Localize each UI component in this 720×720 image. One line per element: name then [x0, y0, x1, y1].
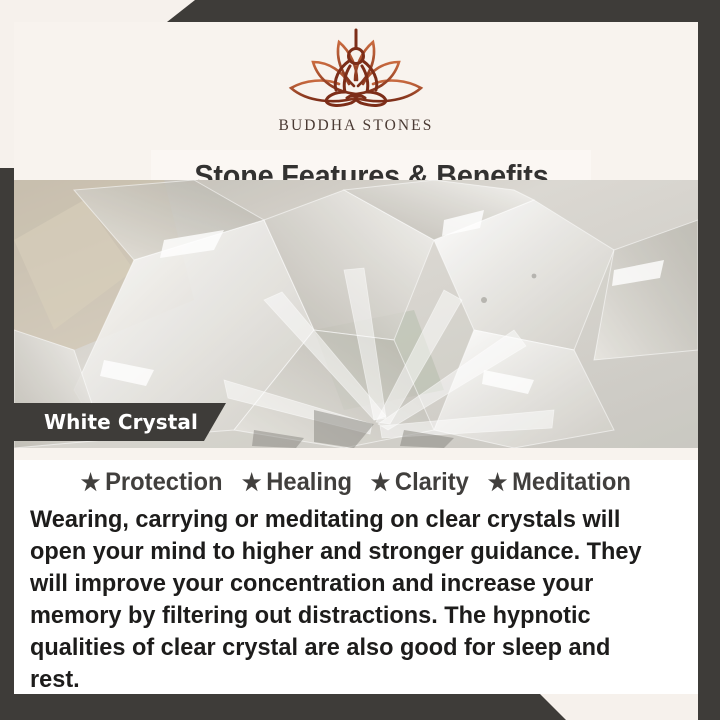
benefit-label: Protection	[105, 468, 222, 497]
benefit-item-protection: ★ Protection	[81, 468, 223, 497]
benefits-row: ★ Protection ★ Healing ★ Clarity ★ Medit…	[14, 468, 698, 497]
infographic-card: BUDDHA STONES Stone Features & Benefits	[0, 0, 720, 720]
frame-bottom-bar	[0, 694, 720, 720]
benefit-item-healing: ★ Healing	[242, 468, 352, 497]
frame-right-bar	[698, 0, 720, 720]
section-divider	[14, 448, 698, 460]
benefit-item-clarity: ★ Clarity	[371, 468, 469, 497]
frame-left-bar	[0, 168, 14, 720]
benefit-label: Healing	[266, 468, 352, 497]
status-badge: White Crystal	[14, 403, 226, 441]
star-icon: ★	[81, 471, 101, 494]
frame-top-bar	[0, 0, 720, 22]
star-icon: ★	[488, 471, 508, 494]
benefit-item-meditation: ★ Meditation	[488, 468, 631, 497]
star-icon: ★	[371, 471, 391, 494]
benefit-label: Meditation	[513, 468, 632, 497]
benefit-label: Clarity	[395, 468, 469, 497]
brand-logo: BUDDHA STONES	[14, 22, 698, 132]
brand-name: BUDDHA STONES	[279, 117, 434, 135]
description-text: Wearing, carrying or meditating on clear…	[30, 504, 660, 696]
lotus-meditation-figure-icon	[281, 28, 431, 115]
header-section: BUDDHA STONES Stone Features & Benefits	[14, 22, 698, 180]
star-icon: ★	[242, 471, 262, 494]
description-section: ★ Protection ★ Healing ★ Clarity ★ Medit…	[14, 448, 698, 694]
badge-label: White Crystal	[44, 410, 198, 434]
